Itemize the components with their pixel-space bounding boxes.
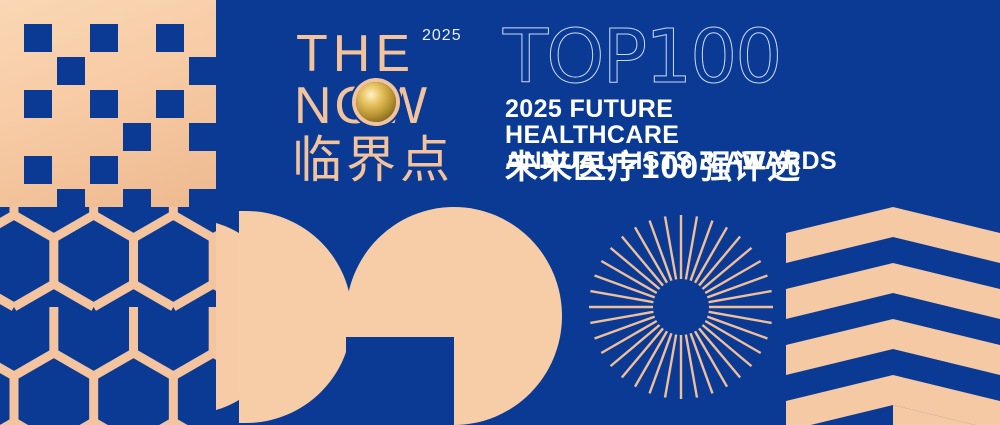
hexagon-edge (54, 353, 94, 376)
subtitle-chinese: 未来医疗100强评选 (505, 149, 801, 185)
hexagon-edge (54, 284, 94, 307)
chevron-stripe (786, 207, 1000, 263)
checkerboard-cell (57, 57, 85, 85)
checkerboard-cell (24, 90, 52, 118)
top100-title: TOP100 (503, 20, 780, 94)
chevron-stripe-pattern (786, 207, 1000, 425)
chevron-stripe (786, 263, 1000, 319)
hexagon-edge (0, 353, 14, 376)
checkerboard-cell (90, 24, 118, 52)
semicircle-group (216, 207, 566, 425)
hexagon-edge (134, 215, 174, 238)
checkerboard-cell (24, 156, 52, 184)
hexagon-edge (134, 284, 174, 307)
hexagon-edge (14, 353, 54, 376)
checkerboard-cell (24, 24, 52, 52)
hexagon-edge (94, 215, 134, 238)
hexagon-edge (94, 353, 134, 376)
hexagon-edge (94, 284, 134, 307)
hexagon-edge (173, 215, 213, 238)
checkerboard-cell (189, 57, 217, 85)
hexagon-edge (14, 284, 54, 307)
sunburst-pattern (588, 214, 774, 400)
semicircle-middle (239, 211, 352, 423)
checkerboard-pattern (0, 0, 216, 207)
hexagon-edge (14, 215, 54, 238)
hexagon-edge (173, 284, 213, 307)
checkerboard-cell (156, 24, 184, 52)
the-now-logo: THE 2025 NOW 临界点 (292, 22, 488, 187)
checkerboard-cell (90, 156, 118, 184)
notch-cutout (346, 337, 454, 425)
logo-year-superscript: 2025 (422, 28, 462, 44)
checkerboard-cell (90, 90, 118, 118)
hexagon-edge (134, 353, 174, 376)
checkerboard-grid (24, 24, 192, 184)
logo-chinese-text: 临界点 (292, 134, 454, 186)
hexagon-lattice-pattern (0, 207, 216, 425)
hexagon-edge (173, 353, 213, 376)
hexagon-edge (0, 284, 14, 307)
subtitle-english-line1: 2025 FUTURE HEALTHCARE (505, 96, 853, 148)
headline-block: TOP100 2025 FUTURE HEALTHCARE ANNUAL LIS… (503, 24, 853, 189)
checkerboard-cell (189, 123, 217, 151)
logo-the-text: THE (296, 28, 415, 80)
gold-orb-icon (356, 82, 396, 122)
chevron-stripe (786, 319, 1000, 375)
hexagon-edge (0, 215, 14, 238)
checkerboard-cell (123, 123, 151, 151)
award-banner: THE 2025 NOW 临界点 TOP100 2025 FUTURE HEAL… (0, 0, 1000, 425)
checkerboard-cell (156, 90, 184, 118)
hexagon-edge (54, 215, 94, 238)
